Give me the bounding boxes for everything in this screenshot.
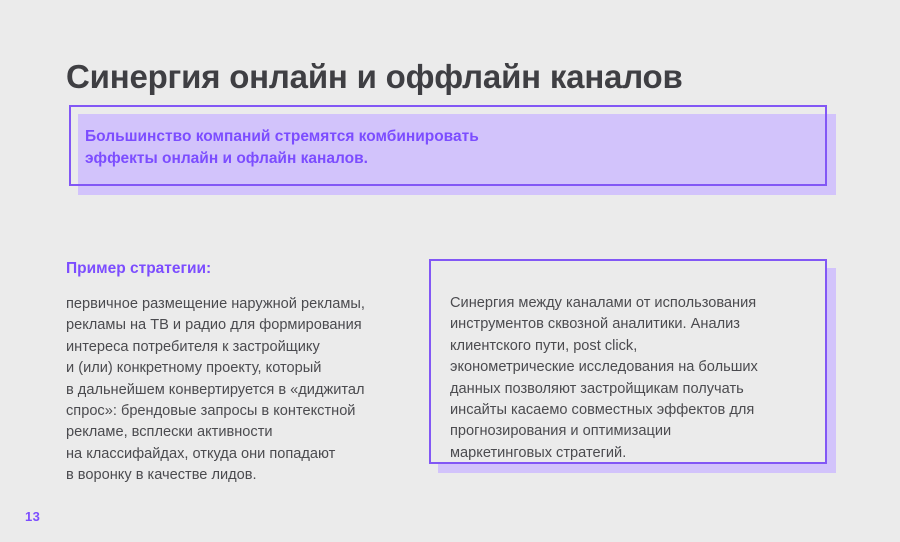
page-number: 13 bbox=[25, 509, 40, 524]
example-strategy-heading: Пример стратегии: bbox=[66, 258, 211, 280]
example-strategy-body: первичное размещение наружной рекламы, р… bbox=[66, 294, 406, 487]
detail-box-text: Синергия между каналами от использования… bbox=[450, 293, 810, 464]
presentation-slide: Синергия онлайн и оффлайн каналов Больши… bbox=[0, 0, 900, 542]
page-title: Синергия онлайн и оффлайн каналов bbox=[66, 57, 683, 97]
callout-text: Большинство компаний стремятся комбиниро… bbox=[85, 126, 725, 170]
